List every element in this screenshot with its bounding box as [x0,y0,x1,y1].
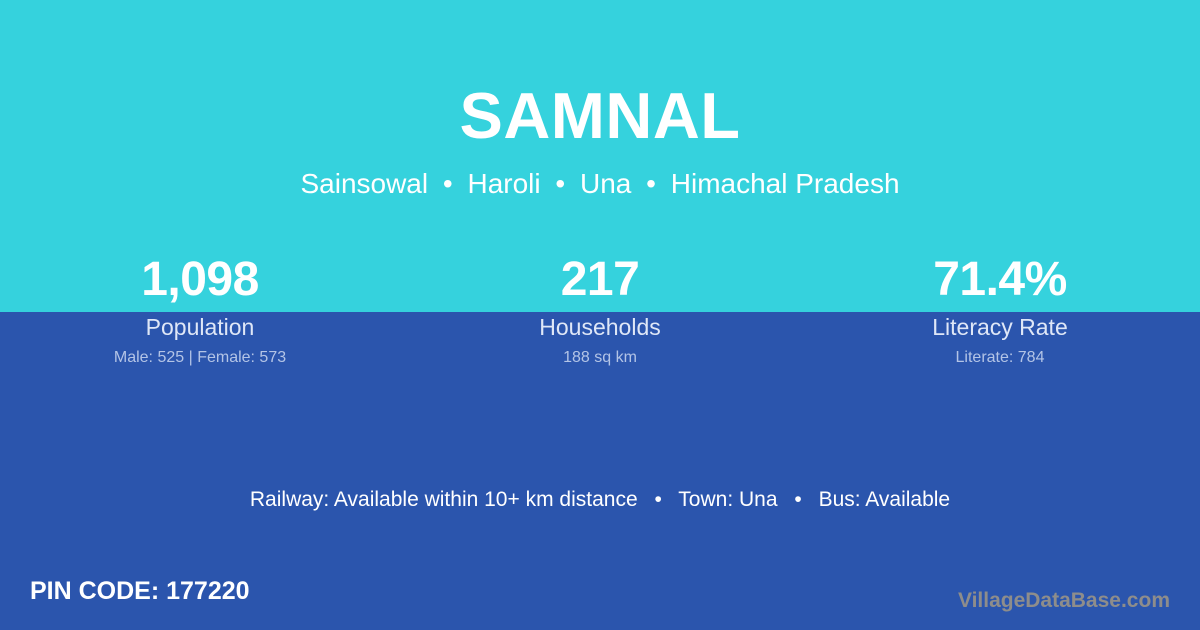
page-title: SAMNAL [0,83,1200,148]
stat-value: 217 [400,248,800,312]
breadcrumb-state: Himachal Pradesh [671,168,900,199]
breadcrumb-block: Haroli [467,168,540,199]
site-brand: VillageDataBase.com [958,588,1170,614]
stat-label: Households [400,312,800,342]
pin-code: PIN CODE: 177220 [30,576,250,606]
bullet-separator-icon: • [783,488,812,511]
infrastructure-summary: Railway: Available within 10+ km distanc… [0,486,1200,514]
breadcrumb-district: Una [580,168,631,199]
card-header: SAMNAL Sainsowal • Haroli • Una • Himach… [0,0,1200,198]
stat-value: 71.4% [800,248,1200,312]
infrastructure-town: Town: Una [678,488,777,511]
stat-households: 217 Households 188 sq km [400,248,800,368]
stat-sublabel: Male: 525 | Female: 573 [0,348,400,368]
infrastructure-bus: Bus: Available [819,488,951,511]
stat-population: 1,098 Population Male: 525 | Female: 573 [0,248,400,368]
stat-sublabel: Literate: 784 [800,348,1200,368]
breadcrumb: Sainsowal • Haroli • Una • Himachal Prad… [0,170,1200,198]
breadcrumb-village: Sainsowal [300,168,428,199]
stat-sublabel: 188 sq km [400,348,800,368]
bullet-separator-icon: • [548,168,572,199]
stat-label: Literacy Rate [800,312,1200,342]
stat-label: Population [0,312,400,342]
bullet-separator-icon: • [643,488,672,511]
bullet-separator-icon: • [639,168,663,199]
stat-value: 1,098 [0,248,400,312]
stat-literacy-rate: 71.4% Literacy Rate Literate: 784 [800,248,1200,368]
bullet-separator-icon: • [436,168,460,199]
village-info-card: SAMNAL Sainsowal • Haroli • Una • Himach… [0,0,1200,630]
stats-row: 1,098 Population Male: 525 | Female: 573… [0,248,1200,368]
infrastructure-railway: Railway: Available within 10+ km distanc… [250,488,638,511]
